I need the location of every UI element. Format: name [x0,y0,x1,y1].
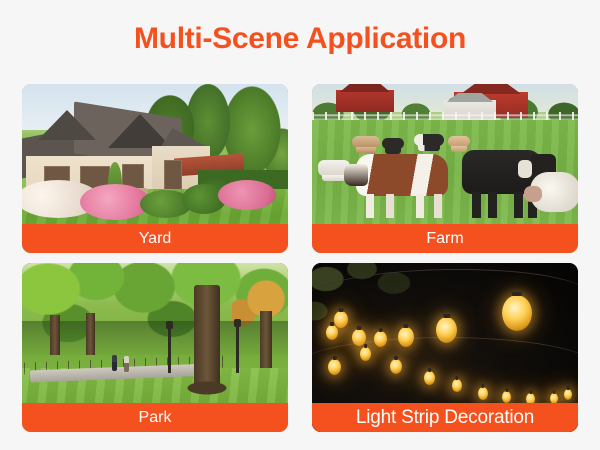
farm-cow-leg [416,194,424,218]
farm-cow-white-patch [518,160,532,178]
farm-sheep-head [524,186,542,202]
park-lamppost-1 [168,327,171,373]
park-tree-trunk-left [50,315,60,355]
scene-card-farm[interactable]: Farm [312,84,578,253]
park-tree-shadow [22,321,288,355]
scene-label-farm: Farm [312,224,578,253]
scene-label-yard: Yard [22,224,288,253]
light-bulb [564,389,572,400]
farm-red-barn-left [336,90,394,112]
park-tree-trunk-mid [86,313,95,355]
farm-distant-cow-brown [352,136,380,148]
yard-pink-flower-bush-right [218,180,276,210]
light-bulb [374,331,387,347]
scene-card-park[interactable]: Park [22,263,288,432]
scene-label-light-strip: Light Strip Decoration [312,403,578,432]
light-bulb [436,317,457,343]
light-string-wire-lower [312,337,578,397]
park-lamppost-2 [236,325,239,373]
farm-distant-cow-black-white [414,134,444,146]
scene-card-grid: Yard [22,84,578,432]
light-bulb [360,347,371,361]
farm-distant-cow-black [382,138,404,149]
farm-sheep-right [530,172,578,212]
page-title: Multi-Scene Application [0,22,600,56]
farm-cow-leg [386,194,394,218]
light-bulb [390,359,402,374]
light-bulb [328,359,341,375]
light-bulb [334,311,348,328]
farm-cow-head-brown [344,164,368,186]
scene-label-park: Park [22,403,288,432]
scene-card-light-strip[interactable]: Light Strip Decoration [312,263,578,432]
park-tree-trunk-right [260,311,272,369]
light-bulb [326,325,338,340]
light-bulb [502,391,511,403]
farm-cow-leg [366,194,374,218]
park-walker-1 [112,355,117,371]
park-foreground-tree-trunk [194,285,220,393]
farm-cow-leg [434,194,442,218]
multi-scene-application-page: Multi-Scene Application [0,0,600,450]
light-bulb [502,295,532,331]
farm-cow-leg [472,192,481,218]
farm-cow-leg [514,192,523,218]
farm-foreground-cow-brown-white [356,154,448,196]
farm-cow-leg [488,192,497,218]
park-walker-2 [124,356,129,372]
light-bulb [452,379,462,392]
farm-distant-cow-tan [448,136,470,147]
light-bulb [424,371,435,385]
light-bulb [398,327,414,347]
light-bulb [478,387,488,400]
scene-card-yard[interactable]: Yard [22,84,288,253]
yard-window-4 [164,160,182,192]
